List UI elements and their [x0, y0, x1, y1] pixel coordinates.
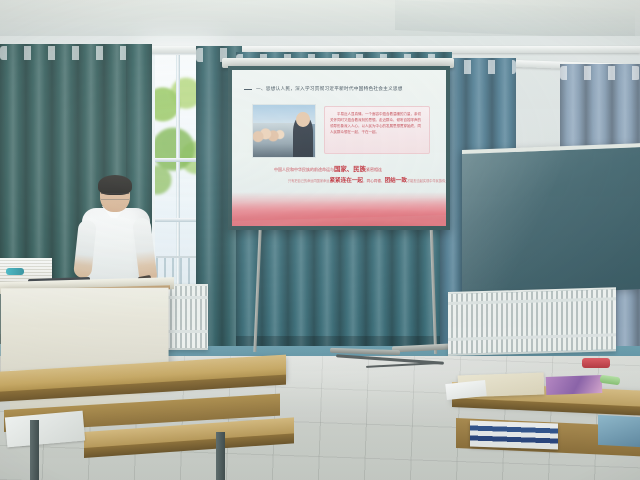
classroom-photo: 一、思想认人民，深入学习贯彻习近平新时代中国特色社会主义思想 平易近人显真情。一…	[0, 0, 640, 480]
purple-magazine	[546, 375, 603, 395]
slide-line2-small: 才能担当起实现中华民族伟大复兴的历史责任	[407, 179, 446, 183]
slide-line1-prefix: 中国人民和中华民族的前途命运与	[274, 167, 334, 172]
slide-highlight-line-1: 中国人民和中华民族的前途命运与国家、民族紧密相连	[274, 164, 382, 173]
slide-line2-emphasis: 紧紧连在一起	[329, 178, 363, 184]
slide-highlight-line-2: 只有把自己的命运同国家命运紧紧连在一起，同心同德、团结一致才能担当起实现中华民族…	[288, 176, 446, 184]
blackboard	[462, 143, 640, 296]
blue-folder	[598, 415, 640, 447]
projection-screen: 一、思想认人民，深入学习贯彻习近平新时代中国特色社会主义思想 平易近人显真情。一…	[228, 66, 450, 230]
desk-front-leg-right	[216, 432, 225, 480]
slide-title-dash	[244, 89, 252, 90]
radiator-bar-bottom-2	[448, 333, 616, 341]
teal-marker	[6, 268, 24, 275]
slide-line1-suffix: 紧密相连	[366, 167, 382, 172]
blackboard-glare	[462, 147, 640, 296]
curtain-grommets-5	[560, 66, 640, 80]
slide-line2-mid: ，同心同德、	[363, 179, 385, 183]
ceiling-beam	[395, 0, 635, 39]
glasses-icon	[101, 193, 129, 200]
curtain-grommets	[0, 46, 142, 60]
red-object	[582, 358, 610, 368]
slide-line1-emphasis: 国家、民族	[334, 166, 366, 173]
slide-body-text: 平易近人显真情。一个面容中蕴含着温暖的力量，亲切关怀同时又蕴含着深刻的思想。走近…	[330, 111, 424, 136]
lecturer-hair	[98, 175, 132, 195]
slide-photo-crowd	[253, 123, 295, 157]
slide-line2-prefix: 只有把自己的命运同国家命运	[288, 179, 329, 183]
slide-text-box: 平易近人显真情。一个面容中蕴含着温暖的力量，亲切关怀同时又蕴含着深刻的思想。走近…	[324, 106, 430, 154]
desk-front-leg-left	[30, 420, 39, 480]
slide-line2-emphasis-2: 团结一致	[385, 178, 407, 184]
slide-red-wave-graphic	[232, 192, 446, 226]
radiator-right	[448, 287, 616, 356]
slide-title-row: 一、思想认人民，深入学习贯彻习近平新时代中国特色社会主义思想	[244, 86, 436, 92]
slide-title: 一、思想认人民，深入学习贯彻习近平新时代中国特色社会主义思想	[256, 86, 403, 92]
slide-photograph	[252, 104, 316, 158]
book-stack	[470, 420, 558, 449]
radiator-bar-top-2	[448, 297, 616, 305]
powerpoint-slide: 一、思想认人民，深入学习贯彻习近平新时代中国特色社会主义思想 平易近人显真情。一…	[232, 70, 446, 226]
